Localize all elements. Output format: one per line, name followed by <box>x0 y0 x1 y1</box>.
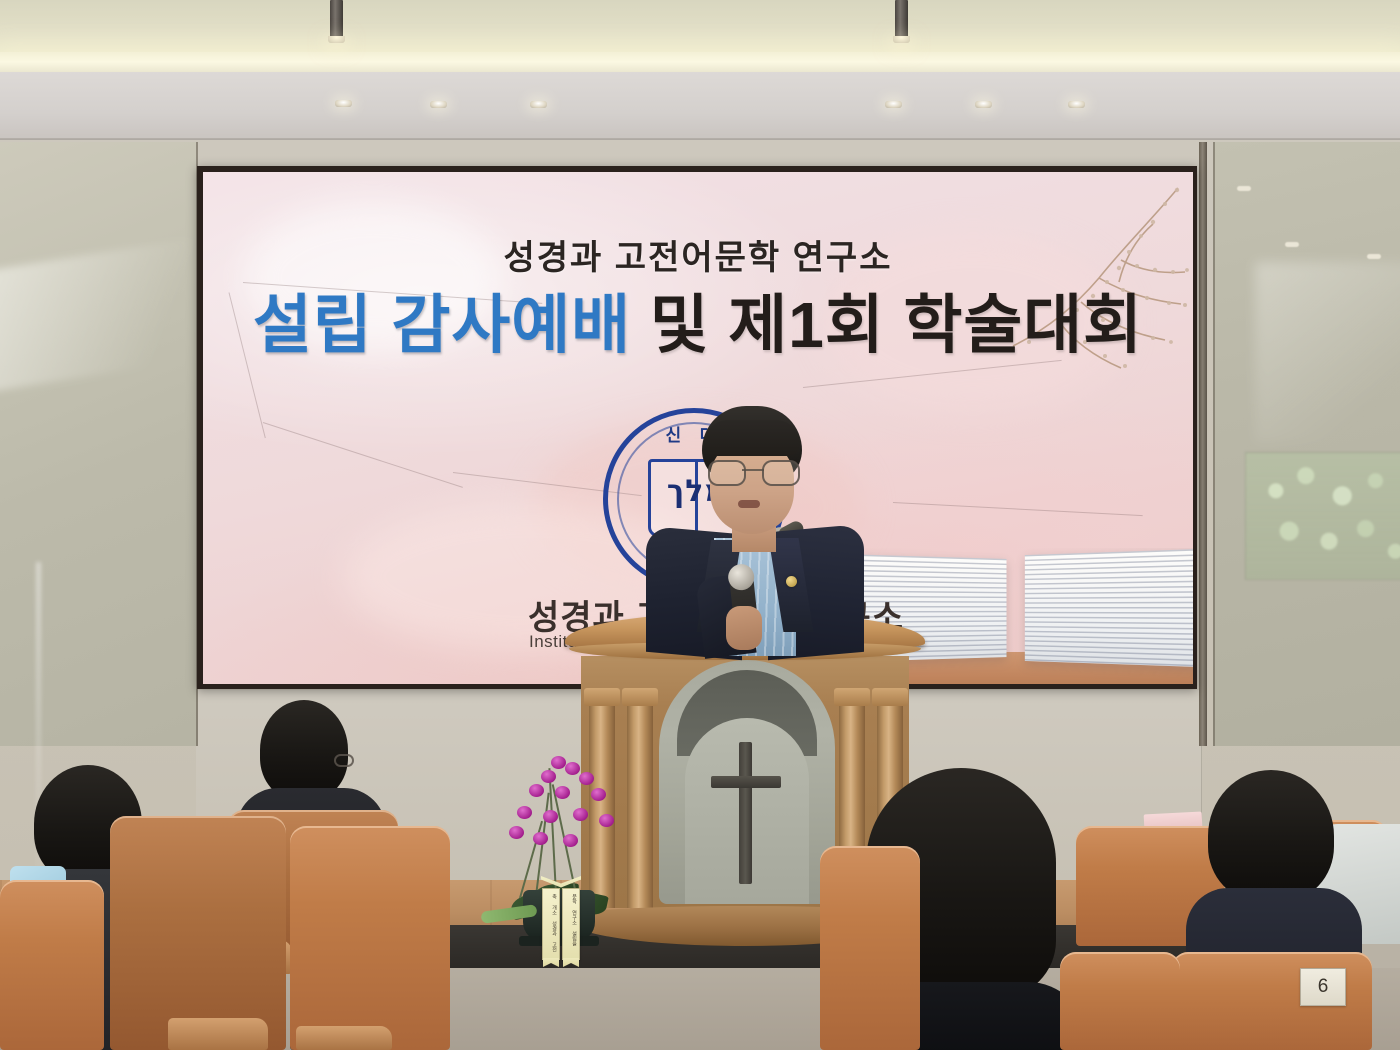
cross-icon-bar <box>711 776 781 788</box>
head <box>1208 770 1334 902</box>
orchid-bloom <box>543 810 558 823</box>
texture-line <box>893 502 1143 516</box>
slide-title-blue: 설립 감사예배 <box>253 289 631 361</box>
head <box>260 700 348 800</box>
downlight-reflection-icon <box>1285 242 1299 247</box>
downlight-reflection-icon <box>1237 186 1251 191</box>
cove-light-strip <box>0 52 1400 74</box>
orchid-bloom <box>591 788 606 801</box>
congratulatory-banner-left: 축 개소 성경과 고전어 <box>542 888 560 960</box>
eyeglasses-icon <box>706 460 800 482</box>
orchid-bloom <box>517 806 532 819</box>
photo-scene: 성경과 고전어문학 연구소 설립 감사예배 및 제1회 학술대회 신 대 מלך… <box>0 0 1400 1050</box>
orchid-bloom <box>555 786 570 799</box>
seat-front-left-2 <box>290 826 450 1050</box>
pendant-light-icon <box>330 0 343 38</box>
glass-sheen <box>1255 262 1400 442</box>
window-mullion <box>1199 142 1207 746</box>
hand <box>726 606 762 650</box>
slide-title-dark: 및 제1회 학술대회 <box>631 289 1143 361</box>
orchid-bloom <box>509 826 524 839</box>
downlight-icon <box>975 101 992 108</box>
seat-armrest <box>296 1026 392 1050</box>
hair-front <box>704 420 800 456</box>
congratulatory-orchid: 축 개소 성경과 고전어 문학 연구소 설립을 축하 <box>495 748 625 948</box>
seat-armrest <box>168 1018 268 1050</box>
book-text-lines <box>1025 549 1193 668</box>
speaker-person <box>640 400 870 650</box>
orchid-bloom <box>541 770 556 783</box>
congratulatory-banner-right: 문학 연구소 설립을 축하 <box>562 888 580 960</box>
pendant-light-icon <box>895 0 908 38</box>
lens-left <box>708 460 746 486</box>
foliage-artwork <box>1245 452 1400 580</box>
slide-title: 설립 감사예배 및 제1회 학술대회 <box>203 290 1193 362</box>
ceiling-soffit <box>0 72 1400 140</box>
downlight-icon <box>430 101 447 108</box>
orchid-bloom <box>573 808 588 821</box>
downlight-icon <box>335 100 352 107</box>
cross-icon <box>739 742 752 884</box>
downlight-icon <box>530 101 547 108</box>
orchid-bloom <box>533 832 548 845</box>
glass-partition-left <box>0 142 198 746</box>
seat-front-left <box>110 816 286 1050</box>
orchid-bloom <box>599 814 614 827</box>
orchid-bloom <box>529 784 544 797</box>
seat-front-right-2 <box>1060 952 1180 1050</box>
pulpit-column <box>627 702 653 908</box>
orchid-bloom <box>565 762 580 775</box>
downlight-reflection-icon <box>1367 254 1381 259</box>
seat-number-label: 6 <box>1318 976 1329 998</box>
downlight-icon <box>1068 101 1085 108</box>
lens-right <box>762 460 800 486</box>
orchid-bloom <box>551 756 566 769</box>
seat-front-right-edge <box>820 846 920 1050</box>
banner-text-right: 문학 연구소 설립을 축하 <box>565 894 577 952</box>
seat-front-far-left <box>0 880 104 1050</box>
pulpit-front-panel <box>659 660 835 904</box>
lapel-pin-icon <box>786 576 797 587</box>
book-right-page <box>1025 549 1193 668</box>
texture-line <box>263 422 463 488</box>
orchid-bloom <box>563 834 578 847</box>
glasses-bridge <box>742 469 764 471</box>
banner-text-left: 축 개소 성경과 고전어 <box>545 894 557 952</box>
eyeglasses-icon <box>334 754 354 767</box>
glass-partition-right <box>1213 142 1400 746</box>
orchid-bloom <box>579 772 594 785</box>
slide-subtitle: 성경과 고전어문학 연구소 <box>203 230 1193 279</box>
seat-number-plate: 6 <box>1300 968 1346 1006</box>
downlight-icon <box>885 101 902 108</box>
mouth <box>738 500 760 508</box>
